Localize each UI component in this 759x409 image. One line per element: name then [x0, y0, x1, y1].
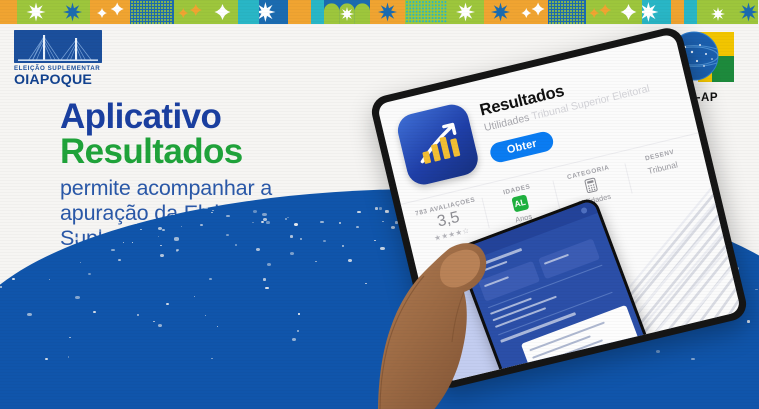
band-block-20: [642, 0, 671, 24]
brand-logo: ELEIÇÃO SUPLEMENTAR OIAPOQUE: [14, 30, 110, 88]
band-block-12: [370, 0, 405, 24]
bridge-icon: [14, 30, 102, 63]
decorative-pattern-band: [0, 0, 759, 24]
band-block-15: [484, 0, 517, 24]
band-block-18: [586, 0, 615, 24]
band-block-19: [615, 0, 642, 24]
band-block-22: [684, 0, 697, 24]
band-block-7: [238, 0, 259, 24]
band-block-8: [259, 0, 288, 24]
band-block-5: [174, 0, 207, 24]
headline-line-2: Resultados: [60, 135, 400, 170]
headline-line-1: Aplicativo: [60, 100, 400, 135]
band-block-2: [55, 0, 90, 24]
band-block-14: [447, 0, 484, 24]
hand-holding-tablet: [372, 232, 587, 409]
poster-canvas: ELEIÇÃO SUPLEMENTAR OIAPOQUE TRE-AP Apli…: [0, 0, 759, 409]
band-block-3: [90, 0, 130, 24]
band-block-1: [17, 0, 55, 24]
install-button[interactable]: Obter: [488, 130, 555, 164]
band-block-4: [130, 0, 174, 24]
band-block-0: [0, 0, 17, 24]
band-block-9: [288, 0, 311, 24]
band-block-23: [697, 0, 739, 24]
band-block-13: [405, 0, 447, 24]
brand-logo-title: OIAPOQUE: [14, 73, 110, 88]
band-block-16: [517, 0, 548, 24]
band-block-24: [739, 0, 758, 24]
band-block-17: [548, 0, 586, 24]
band-block-21: [671, 0, 684, 24]
band-block-6: [207, 0, 238, 24]
band-block-11: [324, 0, 370, 24]
band-block-10: [311, 0, 324, 24]
